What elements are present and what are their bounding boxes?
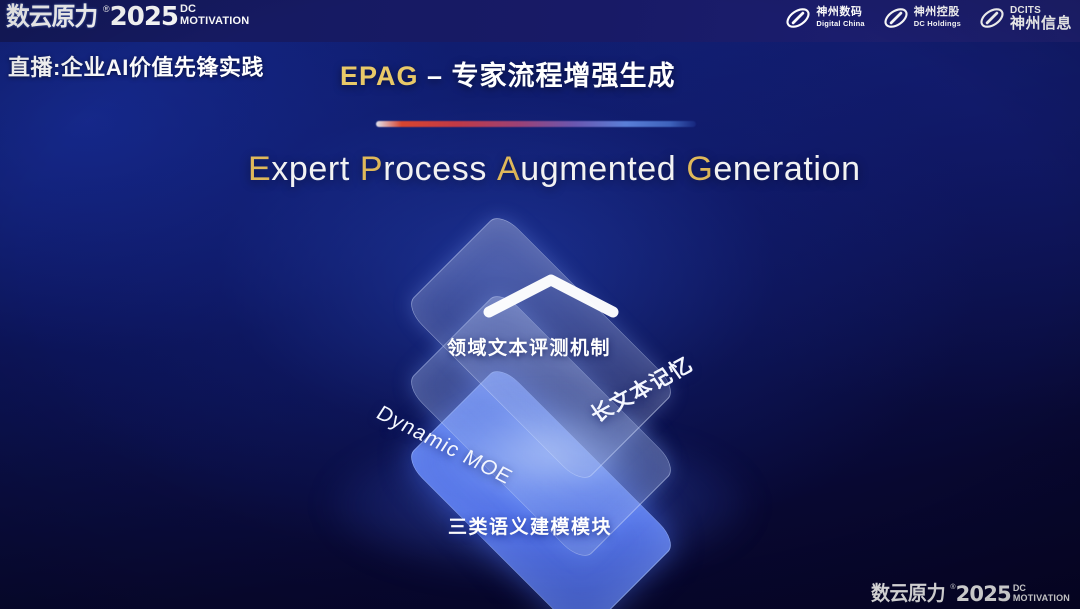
subtitle-rest-process: rocess xyxy=(383,150,487,188)
subtitle-cap-g: G xyxy=(686,150,713,188)
page-title: EPAG – 专家流程增强生成 xyxy=(340,54,676,93)
brand-motivation-label: MOTIVATION xyxy=(180,15,249,27)
corp-name-en: DC Holdings xyxy=(914,20,961,28)
corp-name-en: Digital China xyxy=(816,20,864,28)
footer-brand-year: 2025 xyxy=(956,583,1011,605)
layer-label-top: 领域文本评测机制 xyxy=(447,333,611,360)
brand-registered-mark: ® xyxy=(103,3,110,15)
footer-brand-cn: 数云原力 xyxy=(871,583,945,605)
swirl-logo-icon xyxy=(979,5,1005,31)
title-separator: – xyxy=(419,61,452,91)
corporate-logo-strip: 神州数码 Digital China 神州控股 DC Holdings xyxy=(785,4,1072,31)
title-chinese: 专家流程增强生成 xyxy=(452,61,676,91)
corp-logo-dcits: DCITS 神州信息 xyxy=(979,4,1072,31)
subtitle-cap-e: E xyxy=(248,150,271,188)
swirl-logo-icon xyxy=(883,5,909,31)
corp-name-cn: 神州数码 xyxy=(816,7,864,18)
brand-name-cn: 数云原力 xyxy=(6,3,97,31)
brand-year: 2025 xyxy=(110,3,178,31)
layer-label-bottom: 三类语义建模模块 xyxy=(448,512,612,539)
brand-dc-label: DC xyxy=(180,4,249,15)
swirl-logo-icon xyxy=(785,5,811,31)
subtitle-cap-p: P xyxy=(360,150,383,188)
corp-name-cn: 神州控股 xyxy=(914,7,961,18)
footer-watermark-logo: 数云原力 ® 2025 DC MOTIVATION xyxy=(871,583,1070,605)
subtitle: Expert Process Augmented Generation xyxy=(248,150,861,189)
footer-dc-label: DC xyxy=(1013,584,1070,593)
live-session-title: 直播:企业AI价值先锋实践 xyxy=(8,50,264,82)
subtitle-rest-generation: eneration xyxy=(713,150,860,188)
brand-logo: 数云原力 ® 2025 DC MOTIVATION xyxy=(6,3,249,31)
corp-logo-digital-china: 神州数码 Digital China xyxy=(785,5,864,31)
corp-name-cn: 神州信息 xyxy=(1010,16,1072,31)
title-acronym: EPAG xyxy=(340,61,419,91)
subtitle-rest-expert: xpert xyxy=(271,150,350,188)
slide-canvas: 数云原力 ® 2025 DC MOTIVATION 直播:企业AI价值先锋实践 … xyxy=(0,0,1080,609)
subtitle-rest-augmented: ugmented xyxy=(520,150,676,188)
footer-motivation-label: MOTIVATION xyxy=(1013,593,1070,603)
chevron-up-icon[interactable] xyxy=(483,272,619,318)
corp-logo-dc-holdings: 神州控股 DC Holdings xyxy=(883,5,961,31)
subtitle-cap-a: A xyxy=(497,150,520,188)
title-divider xyxy=(376,121,696,127)
